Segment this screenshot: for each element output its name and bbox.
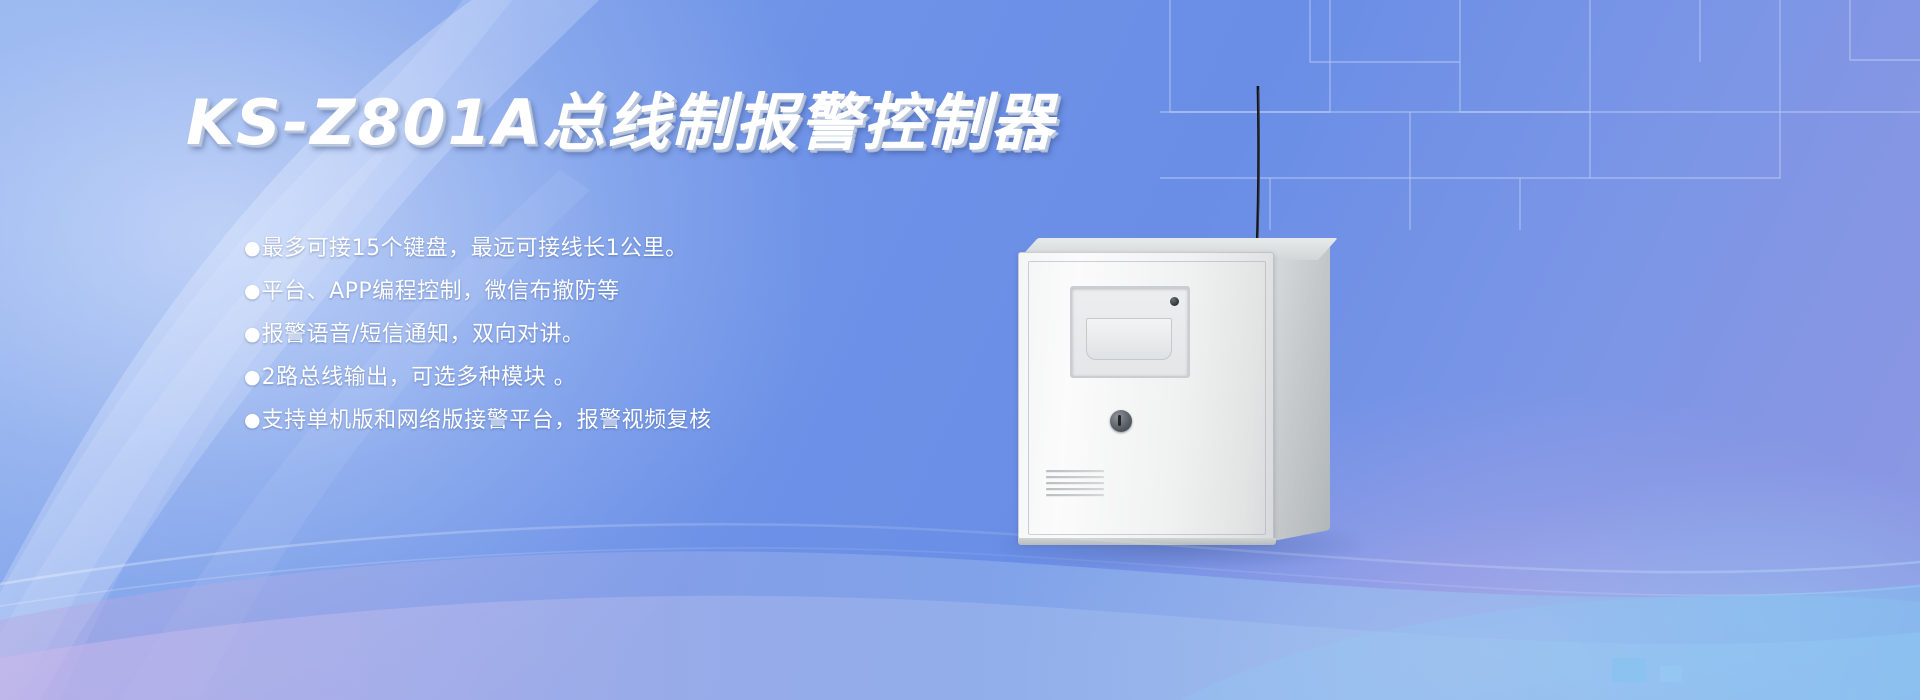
product-image: [940, 60, 1440, 580]
cabinet-lock-icon: [1110, 410, 1132, 432]
bullet-dot-icon: ●: [244, 368, 261, 387]
feature-text: 最多可接15个键盘，最远可接线长1公里。: [262, 238, 688, 260]
printer-window: [1070, 286, 1190, 378]
vent-slat: [1046, 488, 1104, 491]
vent-slat: [1046, 476, 1104, 479]
feature-text: 2路总线输出，可选多种模块 。: [262, 367, 577, 389]
vent-slat: [1046, 482, 1104, 485]
list-item: ● 平台、APP编程控制，微信布撤防等: [244, 281, 712, 303]
vent-slat: [1046, 494, 1104, 497]
status-led-icon: [1170, 297, 1179, 306]
product-banner: KS-Z801A总线制报警控制器 ● 最多可接15个键盘，最远可接线长1公里。 …: [0, 0, 1920, 700]
vent-slat: [1046, 470, 1104, 473]
feature-text: 报警语音/短信通知，双向对讲。: [262, 324, 585, 346]
bullet-dot-icon: ●: [244, 411, 261, 430]
page-title: KS-Z801A总线制报警控制器: [186, 72, 1055, 162]
cabinet-side-panel: [1268, 240, 1330, 542]
printer-slot: [1086, 318, 1172, 360]
feature-list: ● 最多可接15个键盘，最远可接线长1公里。 ● 平台、APP编程控制，微信布撤…: [244, 238, 712, 453]
bullet-dot-icon: ●: [244, 282, 261, 301]
list-item: ● 最多可接15个键盘，最远可接线长1公里。: [244, 238, 712, 260]
feature-text: 支持单机版和网络版接警平台，报警视频复核: [262, 410, 712, 432]
feature-text: 平台、APP编程控制，微信布撤防等: [262, 281, 620, 303]
bullet-dot-icon: ●: [244, 325, 261, 344]
list-item: ● 支持单机版和网络版接警平台，报警视频复核: [244, 410, 712, 432]
list-item: ● 2路总线输出，可选多种模块 。: [244, 367, 712, 389]
cyan-glow: [1459, 462, 1920, 700]
cabinet-front-door: [1018, 252, 1274, 542]
ventilation-louvers: [1046, 470, 1104, 504]
cabinet: [1018, 252, 1318, 542]
cabinet-bottom-lip: [1018, 538, 1276, 545]
list-item: ● 报警语音/短信通知，双向对讲。: [244, 324, 712, 346]
bullet-dot-icon: ●: [244, 239, 261, 258]
